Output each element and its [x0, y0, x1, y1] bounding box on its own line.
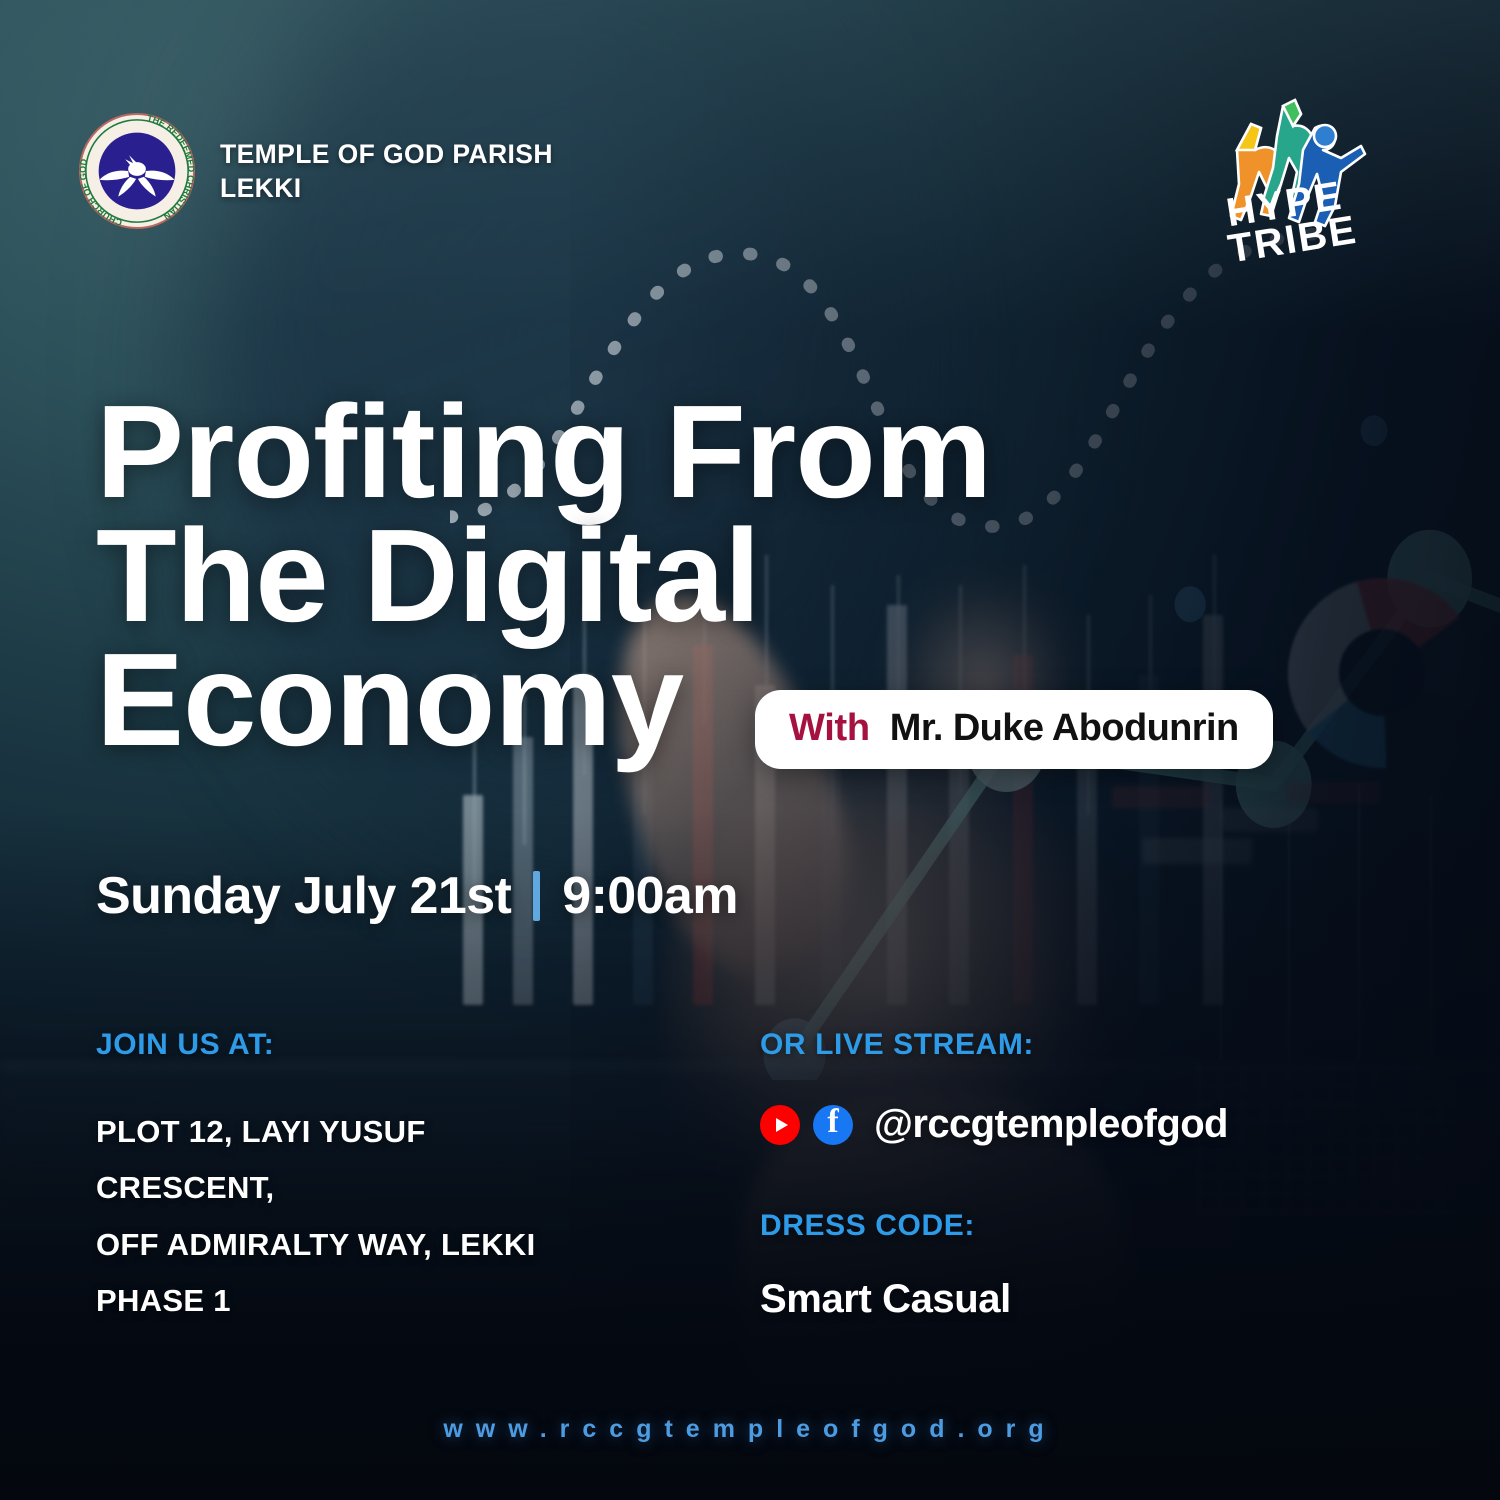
schedule-divider: [533, 871, 540, 921]
hype-tribe-logo-icon: HYPE TRIBE: [1207, 88, 1382, 263]
speaker-badge: With Mr. Duke Abodunrin: [755, 690, 1273, 769]
dress-code-heading: DRESS CODE:: [760, 1209, 1400, 1243]
schedule-row: Sunday July 21st 9:00am: [96, 866, 738, 926]
title-line-1: Profiting From: [96, 390, 1096, 514]
title-line-2: The Digital: [96, 514, 1096, 638]
venue-line-2: CRESCENT,: [96, 1160, 716, 1216]
parish-name: TEMPLE OF GOD PARISH LEKKI: [220, 137, 553, 206]
venue-line-1: PLOT 12, LAYI YUSUF: [96, 1104, 716, 1160]
event-time: 9:00am: [562, 866, 738, 926]
event-date: Sunday July 21st: [96, 866, 511, 926]
youtube-icon[interactable]: [760, 1105, 800, 1145]
parish-line-2: LEKKI: [220, 171, 553, 205]
venue-heading: JOIN US AT:: [96, 1028, 716, 1062]
venue-address: PLOT 12, LAYI YUSUF CRESCENT, OFF ADMIRA…: [96, 1104, 716, 1330]
rccg-logo-icon: THE REDEEMED CHRISTIAN CHURCH OF GOD: [78, 112, 196, 230]
venue-column: JOIN US AT: PLOT 12, LAYI YUSUF CRESCENT…: [96, 1028, 716, 1330]
dress-code-value: Smart Casual: [760, 1277, 1400, 1322]
event-flyer: THE REDEEMED CHRISTIAN CHURCH OF GOD TEM…: [0, 0, 1500, 1500]
venue-line-4: PHASE 1: [96, 1273, 716, 1329]
stream-heading: OR LIVE STREAM:: [760, 1028, 1400, 1062]
social-handle[interactable]: @rccgtempleofgod: [874, 1102, 1228, 1147]
stream-column: OR LIVE STREAM: f @rccgtempleofgod DRESS…: [760, 1028, 1400, 1322]
footer-website[interactable]: www.rccgtempleofgod.org: [0, 1415, 1500, 1444]
venue-line-3: OFF ADMIRALTY WAY, LEKKI: [96, 1217, 716, 1273]
speaker-name: Mr. Duke Abodunrin: [890, 707, 1239, 750]
flyer-header: THE REDEEMED CHRISTIAN CHURCH OF GOD TEM…: [78, 112, 553, 230]
parish-line-1: TEMPLE OF GOD PARISH: [220, 137, 553, 171]
social-row: f @rccgtempleofgod: [760, 1102, 1400, 1147]
facebook-icon[interactable]: f: [813, 1105, 853, 1145]
speaker-with-label: With: [789, 707, 870, 750]
